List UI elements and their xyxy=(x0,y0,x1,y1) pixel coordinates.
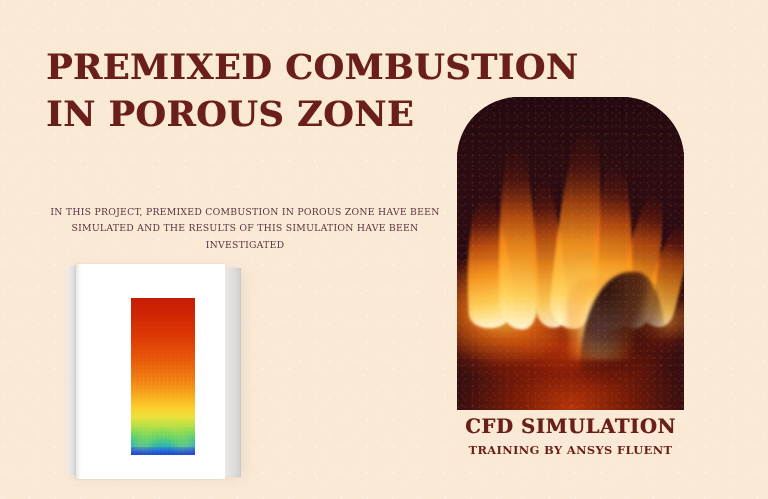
report-cover-mockup xyxy=(67,264,243,479)
contour-mesh-overlay xyxy=(131,298,195,455)
page-title-line-1: PREMIXED COMBUSTION xyxy=(46,44,566,91)
caption-subtitle: TRAINING BY ANSYS FLUENT xyxy=(457,443,684,457)
book-front-cover xyxy=(76,264,225,479)
caption-main: CFD SIMULATION xyxy=(457,415,684,438)
page-title: PREMIXED COMBUSTION IN POROUS ZONE xyxy=(46,44,566,138)
page-title-line-2: IN POROUS ZONE xyxy=(46,91,566,138)
cfd-temperature-contour xyxy=(131,298,195,455)
combustion-flame-photo xyxy=(457,97,684,410)
poster-canvas: PREMIXED COMBUSTION IN POROUS ZONE IN TH… xyxy=(0,0,768,499)
project-description: IN THIS PROJECT, PREMIXED COMBUSTION IN … xyxy=(42,205,448,254)
